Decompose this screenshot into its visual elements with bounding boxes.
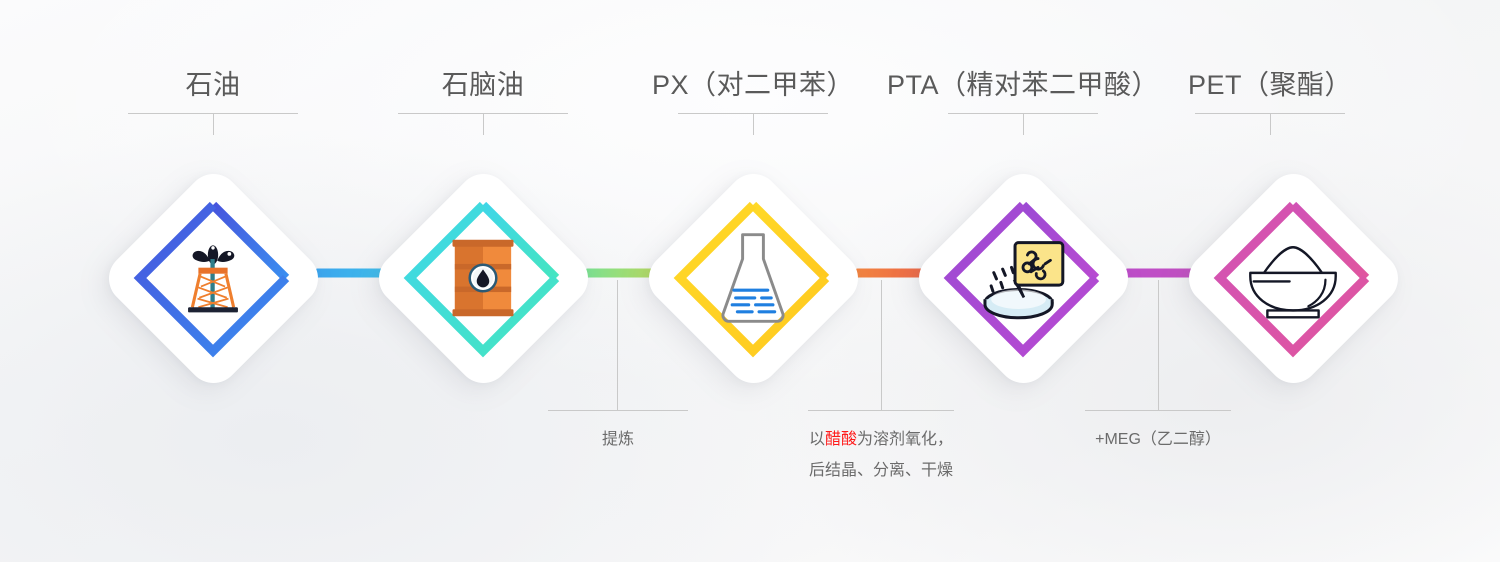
label-tick <box>213 113 214 135</box>
label-naphtha: 石脑油 <box>398 72 568 99</box>
label-pet: PET（聚酯） <box>1180 72 1360 99</box>
label-group-px: PX（对二甲苯） <box>644 72 862 114</box>
caption-rule-wrap <box>1085 280 1231 410</box>
label-tick <box>1270 113 1271 135</box>
polyester-chips-bowl-icon <box>1241 237 1345 319</box>
caption-meg: +MEG（乙二醇） <box>1085 424 1231 455</box>
caption-text-plain: 以 <box>809 431 825 448</box>
caption-oxidation: 以醋酸为溶剂氧化， 后结晶、分离、干燥 <box>808 424 954 486</box>
label-tick <box>483 113 484 135</box>
label-petroleum: 石油 <box>128 72 298 99</box>
caption-line-1: 以醋酸为溶剂氧化， <box>808 424 954 455</box>
label-tick <box>1023 113 1024 135</box>
caption-group-meg: +MEG（乙二醇） <box>1085 280 1231 455</box>
label-rule-wrap <box>398 113 568 114</box>
caption-group-oxidation: 以醋酸为溶剂氧化， 后结晶、分离、干燥 <box>808 280 954 486</box>
caption-rule <box>1085 410 1231 411</box>
caption-tick <box>1158 280 1159 410</box>
flow-diagram: 石油 石脑油 PX（对二甲苯） PTA（精对苯二甲酸） PET（聚酯） <box>0 0 1500 562</box>
label-tick <box>753 113 754 135</box>
oil-barrel-icon <box>443 235 523 321</box>
petri-dish-icon <box>974 232 1072 324</box>
caption-text-plain: 为溶剂氧化， <box>857 431 953 448</box>
caption-rule <box>808 410 954 411</box>
caption-line-text: 提炼 <box>602 431 634 448</box>
caption-tick <box>617 280 618 410</box>
node-icon-wrap <box>98 163 328 393</box>
label-group-pet: PET（聚酯） <box>1180 72 1360 114</box>
caption-line-text: +MEG（乙二醇） <box>1095 431 1221 448</box>
label-rule-wrap <box>128 113 298 114</box>
caption-tick <box>881 280 882 410</box>
caption-line-2: 后结晶、分离、干燥 <box>808 455 954 486</box>
label-rule-wrap <box>678 113 828 114</box>
label-group-naphtha: 石脑油 <box>398 72 568 114</box>
caption-rule <box>548 410 688 411</box>
caption-text-highlight: 醋酸 <box>825 431 857 448</box>
label-group-petroleum: 石油 <box>128 72 298 114</box>
caption-refining: 提炼 <box>548 424 688 455</box>
caption-group-refining: 提炼 <box>548 280 688 455</box>
caption-rule-wrap <box>548 280 688 410</box>
label-group-pta: PTA（精对苯二甲酸） <box>878 72 1168 114</box>
label-rule-wrap <box>948 113 1098 114</box>
oil-derrick-icon <box>170 235 256 321</box>
erlenmeyer-flask-icon <box>714 228 792 328</box>
caption-text-plain: 后结晶、分离、干燥 <box>809 462 953 479</box>
label-pta: PTA（精对苯二甲酸） <box>878 72 1168 99</box>
caption-rule-wrap <box>808 280 954 410</box>
node-petroleum[interactable] <box>98 163 328 393</box>
label-rule-wrap <box>1195 113 1345 114</box>
label-px: PX（对二甲苯） <box>644 72 862 99</box>
